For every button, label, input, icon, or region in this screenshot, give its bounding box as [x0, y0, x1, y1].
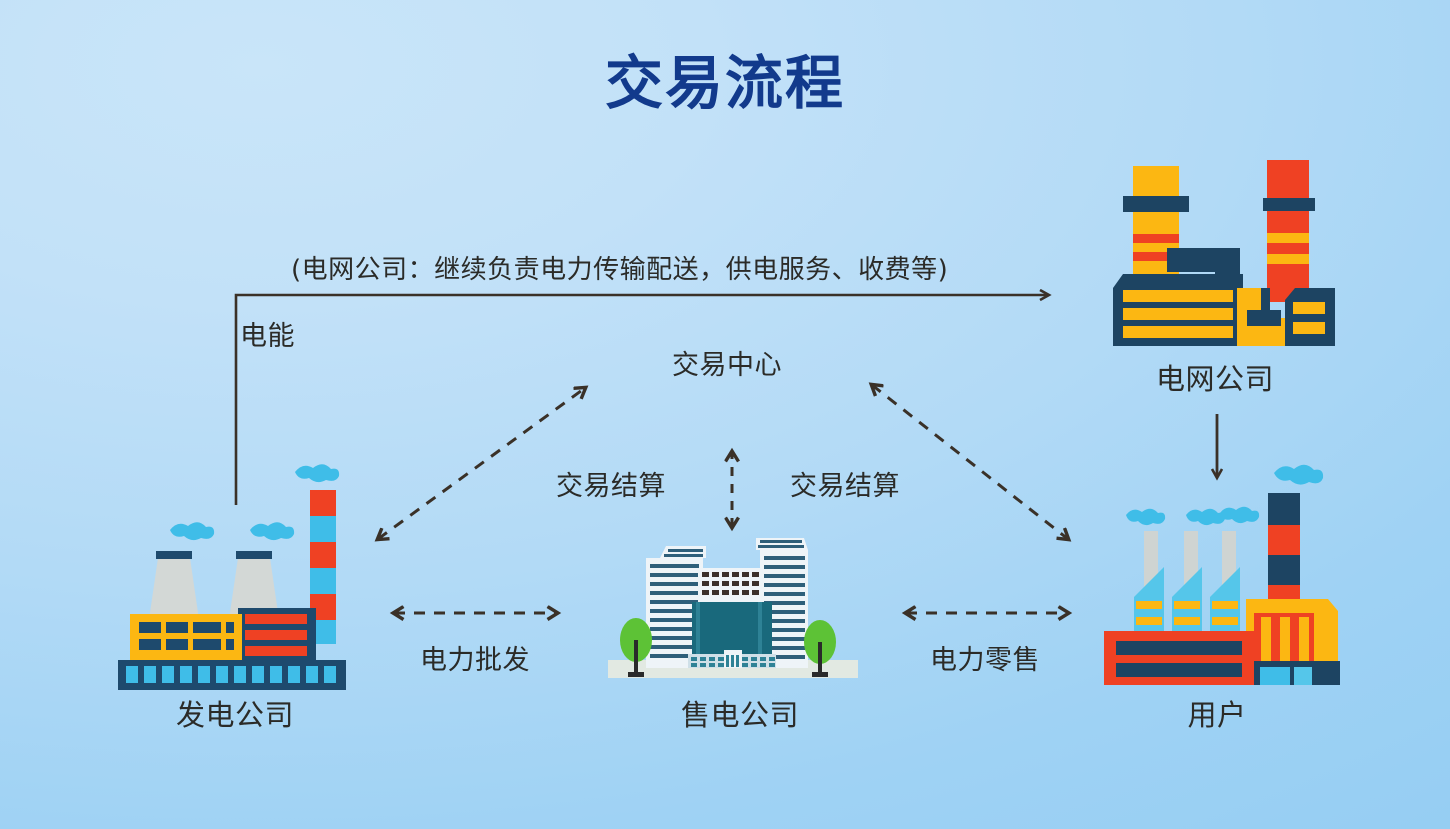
node-label-grid-company: 电网公司	[1150, 363, 1280, 396]
wholesale-label: 电力批发	[420, 645, 530, 676]
node-label-generator: 发电公司	[170, 699, 300, 732]
retail-label: 电力零售	[930, 645, 1040, 676]
trading-center-label: 交易中心	[672, 350, 782, 381]
edge-generator-trading-center	[378, 388, 585, 539]
electric-energy-label: 电能	[240, 321, 295, 352]
node-label-retailer: 售电公司	[675, 699, 805, 732]
settlement-right-label: 交易结算	[790, 471, 900, 502]
grid-factory-icon	[1095, 160, 1360, 360]
industrial-factory-icon	[1098, 455, 1360, 690]
office-building-icon	[608, 528, 858, 688]
page-title: 交易流程	[0, 52, 1450, 116]
diagram-canvas: 交易流程	[0, 0, 1450, 829]
settlement-left-label: 交易结算	[556, 471, 666, 502]
node-label-customer: 用户	[1152, 699, 1282, 732]
power-plant-icon	[110, 450, 375, 690]
edge-customer-trading-center	[872, 385, 1068, 539]
grid-company-note: (电网公司：继续负责电力传输配送，供电服务、收费等)	[291, 256, 948, 286]
